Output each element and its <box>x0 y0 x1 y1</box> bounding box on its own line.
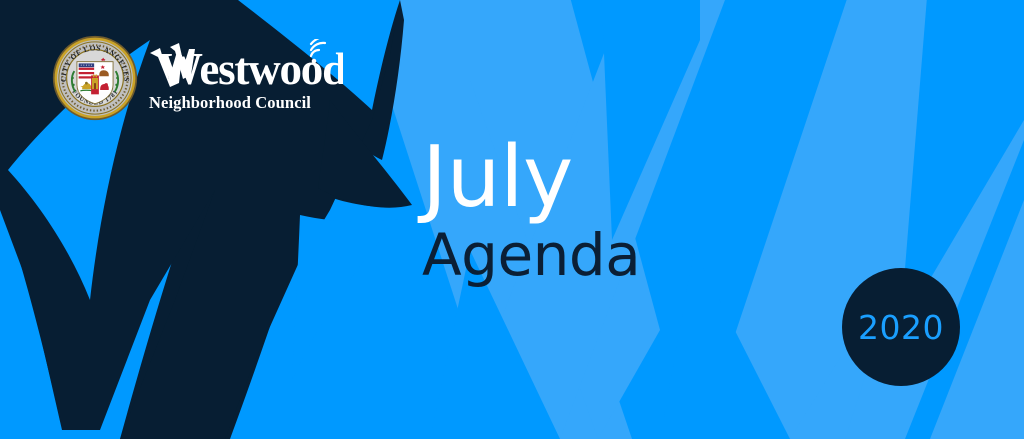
title-block: July Agenda <box>422 136 722 286</box>
navy-lower-notch <box>292 215 400 380</box>
title-month: July <box>422 136 722 220</box>
westwood-wordmark: Westwood Neighborhood Council <box>148 37 343 119</box>
title-kind: Agenda <box>422 224 722 286</box>
city-of-los-angeles-seal-icon: CITY OF LOS ANGELES FOUNDED 1781 <box>52 35 138 121</box>
agenda-banner: CITY OF LOS ANGELES FOUNDED 1781 <box>0 0 1024 439</box>
year-badge: 2020 <box>842 268 960 386</box>
wordmark-subtitle: Neighborhood Council <box>149 93 344 113</box>
westwood-wordmark-text: Westwood <box>148 39 343 95</box>
year-badge-label: 2020 <box>858 311 944 344</box>
logo-lockup: CITY OF LOS ANGELES FOUNDED 1781 <box>52 32 352 124</box>
